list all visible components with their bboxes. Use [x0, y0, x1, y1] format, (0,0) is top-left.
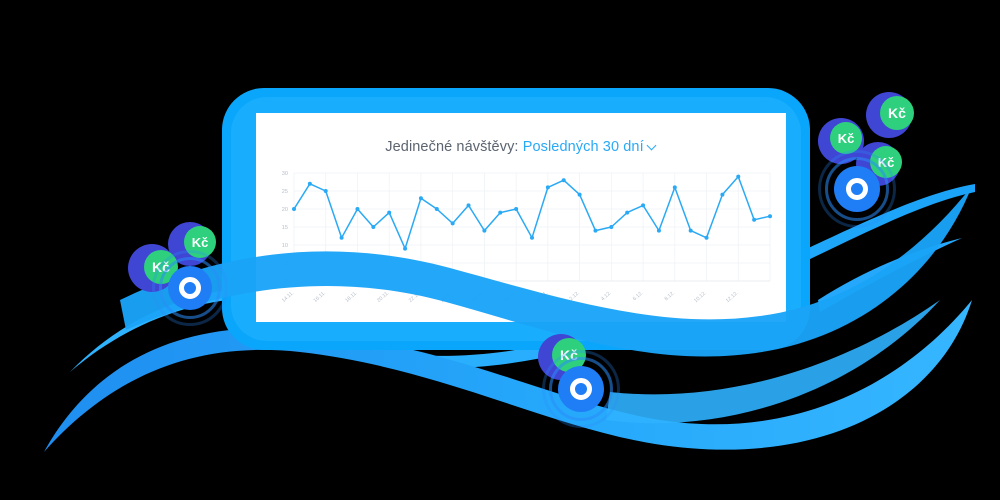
badge-group-bottom: Kč — [534, 334, 634, 414]
badge-group-left: Kč Kč — [128, 222, 238, 332]
pin-ring-icon — [570, 378, 592, 400]
badge-group-right: Kč Kč Kč — [812, 92, 942, 222]
location-pin-marker — [558, 366, 604, 412]
illustration-stage: Jedinečné návštěvy: Posledných 30 dní 05… — [0, 0, 1000, 500]
location-pin-marker — [168, 266, 212, 310]
currency-coin-kc: Kč — [880, 96, 914, 130]
location-pin-marker — [834, 166, 880, 212]
pin-ring-icon — [846, 178, 868, 200]
pin-ring-icon — [179, 277, 201, 299]
